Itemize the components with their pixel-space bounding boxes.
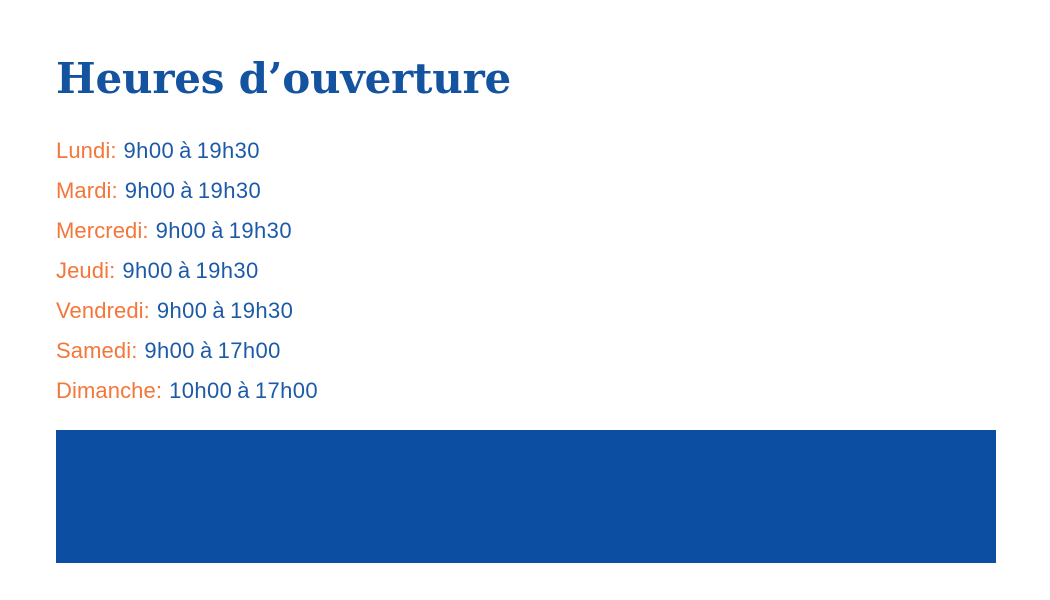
day-label: Vendredi: [56, 298, 150, 323]
hours-value: 9h00à19h30 [157, 298, 293, 323]
open-time: 9h00 [122, 258, 173, 283]
hours-row: Dimanche:10h00à17h00 [56, 371, 756, 411]
hours-value: 9h00à19h30 [122, 258, 258, 283]
day-label: Dimanche: [56, 378, 162, 403]
close-time: 19h30 [197, 138, 260, 163]
open-time: 9h00 [124, 138, 175, 163]
time-separator: à [195, 338, 218, 363]
hours-value: 10h00à17h00 [169, 378, 318, 403]
time-separator: à [207, 298, 230, 323]
hours-row: Mercredi:9h00à19h30 [56, 211, 756, 251]
open-time: 9h00 [125, 178, 176, 203]
day-label: Mardi: [56, 178, 118, 203]
title-block: Heures d’ouverture [56, 57, 956, 101]
close-time: 19h30 [230, 298, 293, 323]
close-time: 17h00 [255, 378, 318, 403]
day-label: Samedi: [56, 338, 137, 363]
hours-row: Samedi:9h00à17h00 [56, 331, 756, 371]
time-separator: à [206, 218, 229, 243]
hours-row: Vendredi:9h00à19h30 [56, 291, 756, 331]
hours-value: 9h00à17h00 [144, 338, 280, 363]
page-title: Heures d’ouverture [56, 57, 956, 101]
hours-row: Jeudi:9h00à19h30 [56, 251, 756, 291]
open-time: 9h00 [144, 338, 195, 363]
open-time: 9h00 [156, 218, 207, 243]
hours-row: Mardi:9h00à19h30 [56, 171, 756, 211]
day-label: Jeudi: [56, 258, 115, 283]
open-time: 10h00 [169, 378, 232, 403]
footer-color-band [56, 430, 996, 563]
close-time: 17h00 [218, 338, 281, 363]
hours-value: 9h00à19h30 [124, 138, 260, 163]
time-separator: à [175, 178, 198, 203]
close-time: 19h30 [196, 258, 259, 283]
day-label: Mercredi: [56, 218, 149, 243]
close-time: 19h30 [229, 218, 292, 243]
time-separator: à [174, 138, 197, 163]
close-time: 19h30 [198, 178, 261, 203]
opening-hours-list: Lundi:9h00à19h30 Mardi:9h00à19h30 Mercre… [56, 131, 756, 411]
hours-value: 9h00à19h30 [156, 218, 292, 243]
open-time: 9h00 [157, 298, 208, 323]
day-label: Lundi: [56, 138, 117, 163]
hours-value: 9h00à19h30 [125, 178, 261, 203]
slide-root: Heures d’ouverture Lundi:9h00à19h30 Mard… [0, 0, 1050, 600]
time-separator: à [232, 378, 255, 403]
hours-row: Lundi:9h00à19h30 [56, 131, 756, 171]
time-separator: à [173, 258, 196, 283]
